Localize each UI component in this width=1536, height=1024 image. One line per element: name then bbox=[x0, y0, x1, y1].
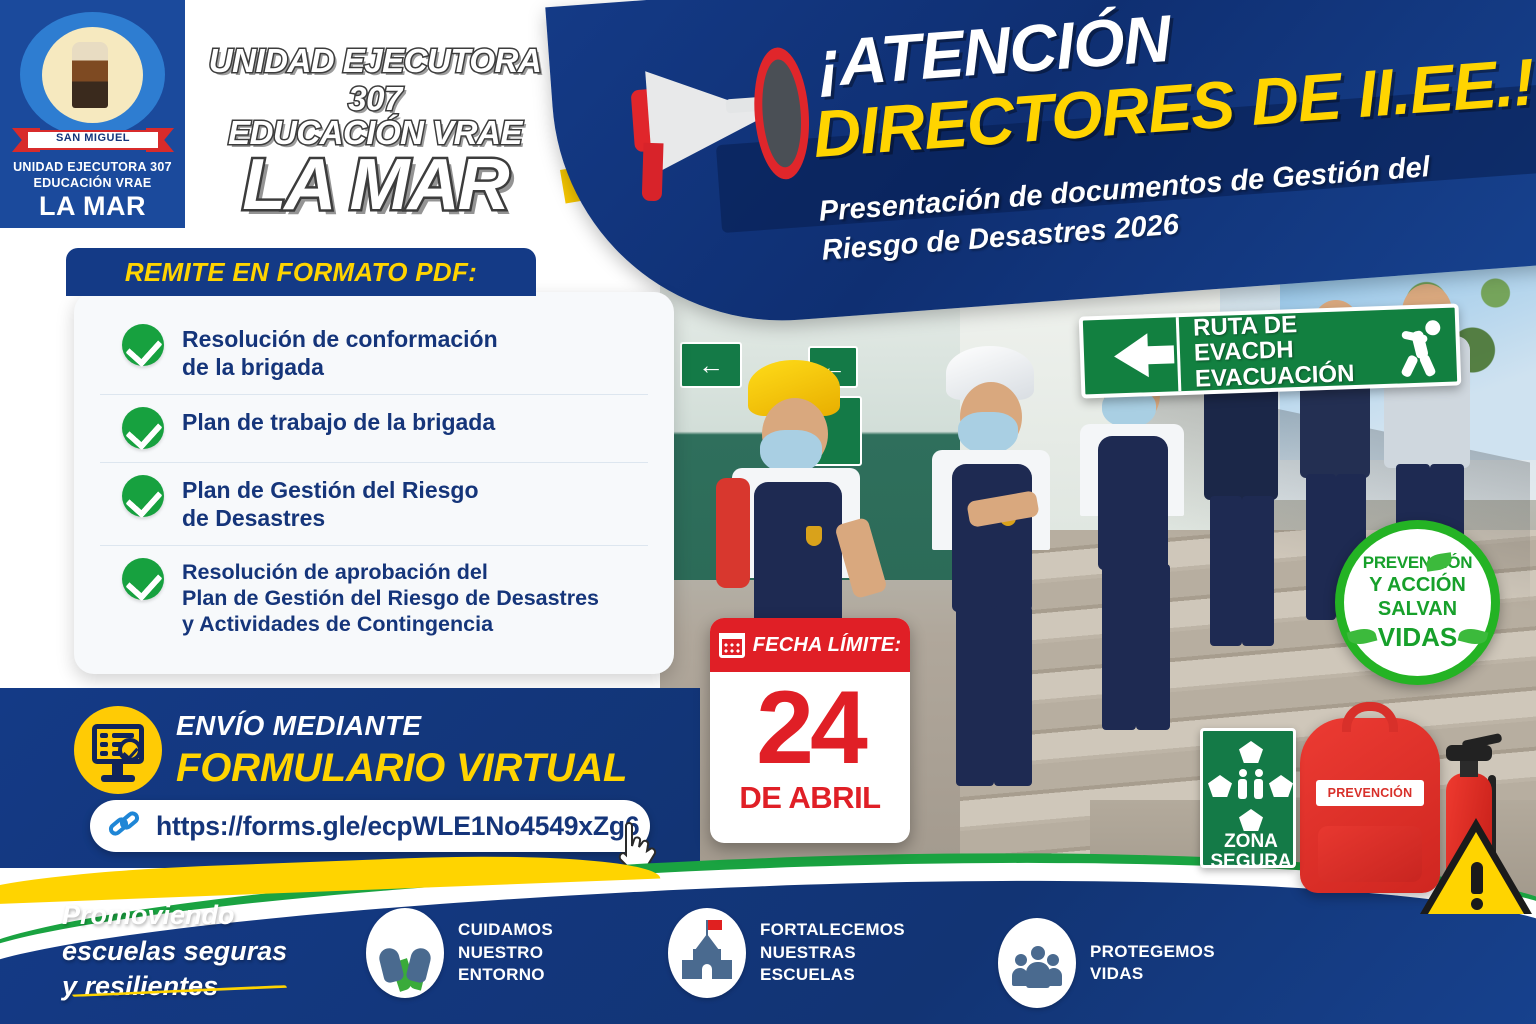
evac-line-1: RUTA DE EVACDH bbox=[1193, 308, 1399, 366]
crest-ribbon: SAN MIGUEL bbox=[12, 128, 174, 154]
list-item: Plan de trabajo de la brigada bbox=[100, 394, 648, 462]
badge-text-1: PREVENCIÓN bbox=[1363, 553, 1472, 572]
footer-label-escuelas: FORTALECEMOS NUESTRAS ESCUELAS bbox=[760, 919, 905, 986]
logo-line-2: EDUCACIÓN VRAE bbox=[0, 176, 185, 190]
evacuation-route-sign: RUTA DE EVACDH EVACUACIÓN bbox=[1079, 303, 1462, 398]
requirement-line: Plan de Gestión del Riesgo bbox=[182, 477, 479, 505]
leaf-icon-right bbox=[1458, 625, 1489, 646]
safe-zone-line-2: SEGURA bbox=[1203, 851, 1299, 873]
envio-label: ENVÍO MEDIANTE bbox=[176, 710, 421, 742]
list-item: Resolución de aprobación del Plan de Ges… bbox=[100, 545, 648, 650]
requirement-line: Resolución de aprobación del bbox=[182, 560, 599, 586]
requirement-text: Plan de trabajo de la brigada bbox=[182, 407, 495, 437]
footer-label-line: CUIDAMOS bbox=[458, 919, 553, 941]
badge-line-1: PREVENCIÓN bbox=[1363, 553, 1472, 573]
wordmark-line-1: UNIDAD EJECUTORA 307 bbox=[195, 42, 555, 118]
footer-label-entorno: CUIDAMOS NUESTRO ENTORNO bbox=[458, 919, 553, 986]
list-item: Resolución de conformación de la brigada bbox=[100, 312, 648, 394]
check-circle-icon bbox=[122, 558, 164, 600]
formulario-virtual-label: FORMULARIO VIRTUAL bbox=[176, 746, 627, 791]
calendar-icon bbox=[719, 633, 745, 658]
running-person-icon bbox=[1397, 308, 1458, 384]
list-item: Plan de Gestión del Riesgo de Desastres bbox=[100, 462, 648, 545]
badge-line-2: Y ACCIÓN bbox=[1369, 574, 1466, 597]
wordmark-line-3: LA MAR bbox=[195, 144, 555, 226]
megaphone-icon bbox=[604, 44, 814, 198]
backpack-label: PREVENCIÓN bbox=[1316, 780, 1424, 806]
deadline-header: FECHA LÍMITE: bbox=[710, 618, 910, 672]
deadline-card: FECHA LÍMITE: 24 DE ABRIL bbox=[710, 618, 910, 843]
pdf-card-header: REMITE EN FORMATO PDF: bbox=[66, 248, 536, 296]
backpack-label-text: PREVENCIÓN bbox=[1328, 786, 1413, 800]
deadline-label: FECHA LÍMITE: bbox=[753, 634, 902, 657]
footer-label-line: PROTEGEMOS bbox=[1090, 941, 1215, 963]
requirement-line: Plan de trabajo de la brigada bbox=[182, 409, 495, 437]
footer-label-vidas: PROTEGEMOS VIDAS bbox=[1090, 941, 1215, 986]
warning-exclamation-bar bbox=[1471, 862, 1483, 894]
check-circle-icon bbox=[122, 475, 164, 517]
requirement-text: Resolución de conformación de la brigada bbox=[182, 324, 498, 381]
wordmark: UNIDAD EJECUTORA 307 EDUCACIÓN VRAE LA M… bbox=[195, 42, 555, 226]
form-url-text: https://forms.gle/ecpWLE1No4549xZg6 bbox=[156, 811, 639, 842]
pdf-requirements-card: Resolución de conformación de la brigada… bbox=[74, 292, 674, 674]
safe-zone-sign: ZONA SEGURA bbox=[1200, 728, 1296, 868]
footer-label-line: NUESTRO bbox=[458, 942, 553, 964]
warning-exclamation-dot bbox=[1471, 898, 1483, 910]
requirement-line: y Actividades de Contingencia bbox=[182, 612, 599, 638]
requirement-line: de la brigada bbox=[182, 354, 498, 382]
hands-leaf-icon bbox=[366, 908, 444, 998]
monitor-checkmark-icon bbox=[74, 706, 162, 794]
footer-label-line: ENTORNO bbox=[458, 964, 553, 986]
footer-item-entorno: CUIDAMOS NUESTRO ENTORNO bbox=[366, 908, 553, 998]
prevention-badge: PREVENCIÓN Y ACCIÓN SALVAN VIDAS bbox=[1335, 520, 1500, 685]
school-building-icon bbox=[668, 908, 746, 998]
evac-line-2: EVACUACIÓN bbox=[1194, 359, 1399, 392]
slogan-line-1: Promoviendo bbox=[62, 898, 287, 934]
requirement-line: Plan de Gestión del Riesgo de Desastres bbox=[182, 586, 599, 612]
crest-ribbon-text: SAN MIGUEL bbox=[12, 132, 174, 144]
footer-label-line: ESCUELAS bbox=[760, 964, 905, 986]
ugel-crest-icon bbox=[20, 12, 165, 137]
arrow-left-icon bbox=[1083, 317, 1182, 394]
requirement-text: Resolución de aprobación del Plan de Ges… bbox=[182, 558, 599, 637]
requirement-text: Plan de Gestión del Riesgo de Desastres bbox=[182, 475, 479, 532]
requirement-line: Resolución de conformación bbox=[182, 326, 498, 354]
leaf-icon-left bbox=[1346, 625, 1377, 646]
people-group-icon bbox=[998, 918, 1076, 1008]
deadline-month: DE ABRIL bbox=[710, 780, 910, 816]
badge-line-3: SALVAN bbox=[1378, 598, 1457, 621]
ugel-logo-block: SAN MIGUEL UNIDAD EJECUTORA 307 EDUCACIÓ… bbox=[0, 0, 185, 228]
people-safe-icon bbox=[1237, 769, 1265, 803]
footer-item-vidas: PROTEGEMOS VIDAS bbox=[998, 918, 1215, 1008]
logo-line-3: LA MAR bbox=[0, 191, 185, 222]
footer-label-line: FORTALECEMOS bbox=[760, 919, 905, 941]
link-chain-icon bbox=[108, 809, 142, 843]
footer-item-escuelas: FORTALECEMOS NUESTRAS ESCUELAS bbox=[668, 908, 905, 998]
check-circle-icon bbox=[122, 407, 164, 449]
footer-label-line: VIDAS bbox=[1090, 963, 1215, 985]
safe-zone-line-1: ZONA bbox=[1203, 831, 1299, 853]
requirement-line: de Desastres bbox=[182, 505, 479, 533]
emergency-backpack: PREVENCIÓN bbox=[1300, 718, 1440, 893]
poster-canvas: ← ← bbox=[0, 0, 1536, 1024]
logo-line-1: UNIDAD EJECUTORA 307 bbox=[0, 160, 185, 174]
pdf-card-heading: REMITE EN FORMATO PDF: bbox=[125, 257, 477, 288]
slogan-line-2: escuelas seguras bbox=[62, 934, 287, 970]
deadline-day: 24 bbox=[710, 680, 910, 778]
footer-label-line: NUESTRAS bbox=[760, 942, 905, 964]
badge-text-4: VIDAS bbox=[1378, 622, 1457, 652]
badge-line-4: VIDAS bbox=[1378, 622, 1457, 653]
form-url-link[interactable]: https://forms.gle/ecpWLE1No4549xZg6 bbox=[90, 800, 650, 852]
check-circle-icon bbox=[122, 324, 164, 366]
evacuation-sign-text: RUTA DE EVACDH EVACUACIÓN bbox=[1179, 308, 1400, 392]
